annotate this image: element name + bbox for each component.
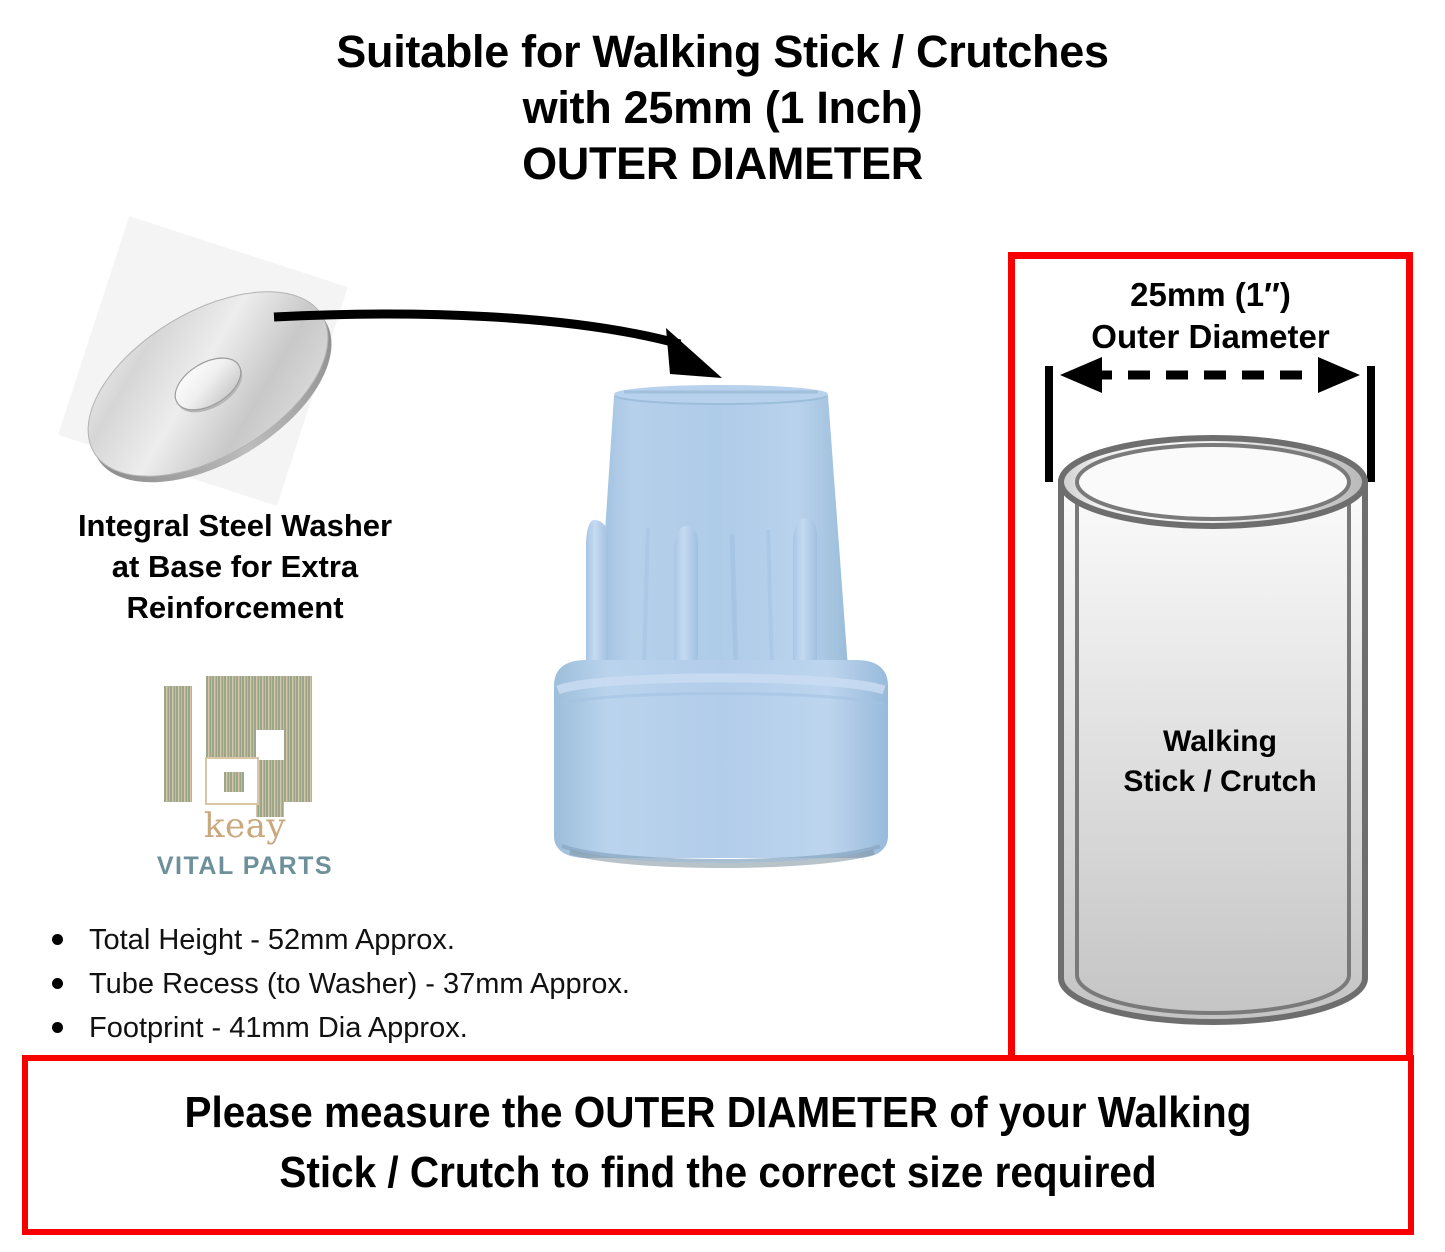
measure-instruction-text: Please measure the OUTER DIAMETER of you…: [78, 1083, 1359, 1203]
washer-caption-line-3: Reinforcement: [10, 587, 460, 628]
specification-list: Total Height - 52mm Approx. Tube Recess …: [52, 918, 752, 1050]
washer-caption-line-1: Integral Steel Washer: [10, 505, 460, 546]
bullet-icon: [52, 1022, 63, 1033]
brand-logo: keay VITAL PARTS: [150, 672, 340, 887]
spec-text: Total Height - 52mm Approx.: [89, 918, 455, 962]
title-line-3: OUTER DIAMETER: [0, 136, 1445, 192]
measure-line-1: Please measure the OUTER DIAMETER of you…: [78, 1083, 1359, 1143]
measure-line-2: Stick / Crutch to find the correct size …: [78, 1143, 1359, 1203]
blue-ferrule-product-photo: [536, 368, 906, 878]
title-line-2: with 25mm (1 Inch): [0, 80, 1445, 136]
spec-text: Footprint - 41mm Dia Approx.: [89, 1006, 468, 1050]
panel-heading-line-1: 25mm (1″): [1008, 274, 1413, 316]
washer-caption-line-2: at Base for Extra: [10, 546, 460, 587]
brand-name: keay: [150, 807, 340, 845]
spec-text: Tube Recess (to Washer) - 37mm Approx.: [89, 962, 630, 1006]
bullet-icon: [52, 934, 63, 945]
tube-label-line-2: Stick / Crutch: [1055, 762, 1385, 802]
panel-heading: 25mm (1″) Outer Diameter: [1008, 274, 1413, 358]
list-item: Tube Recess (to Washer) - 37mm Approx.: [52, 962, 752, 1006]
tube-label-line-1: Walking: [1055, 722, 1385, 762]
title-line-1: Suitable for Walking Stick / Crutches: [0, 24, 1445, 80]
keay-logo-mark-icon: [160, 672, 320, 817]
list-item: Total Height - 52mm Approx.: [52, 918, 752, 962]
bullet-icon: [52, 978, 63, 989]
brand-tagline: VITAL PARTS: [150, 852, 340, 881]
list-item: Footprint - 41mm Dia Approx.: [52, 1006, 752, 1050]
page-title: Suitable for Walking Stick / Crutches wi…: [0, 24, 1445, 192]
washer-caption: Integral Steel Washer at Base for Extra …: [10, 505, 460, 628]
tube-label: Walking Stick / Crutch: [1055, 722, 1385, 802]
